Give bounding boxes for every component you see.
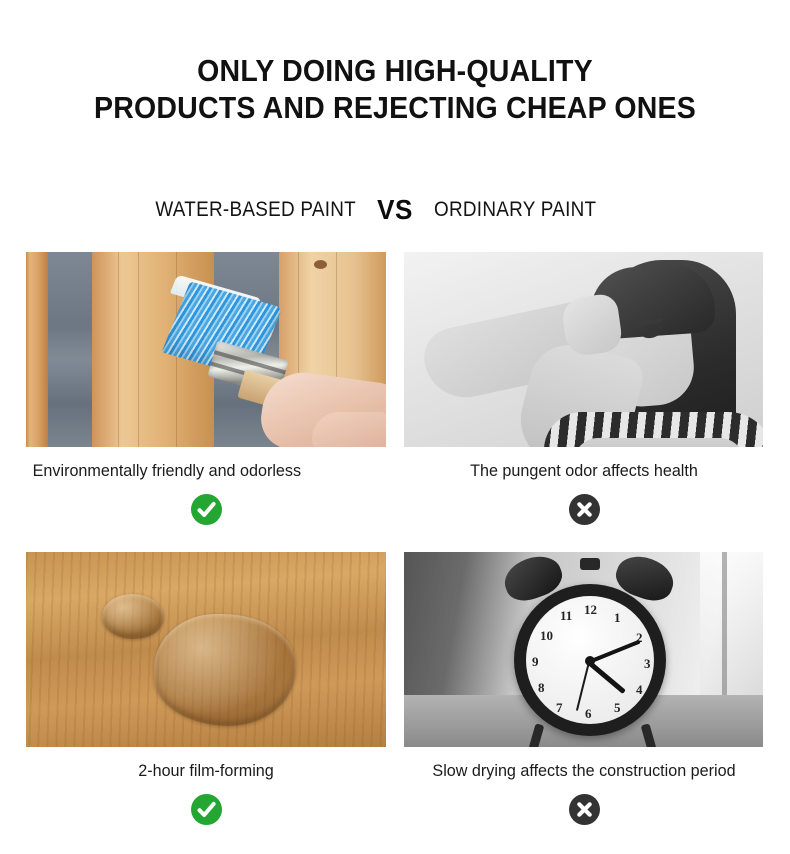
cell-caption: The pungent odor affects health (413, 460, 755, 482)
clock-numeral: 10 (540, 628, 553, 644)
clock-numeral: 4 (636, 682, 643, 698)
comparison-infographic: ONLY DOING HIGH-QUALITY PRODUCTS AND REJ… (0, 0, 790, 854)
versus-left-label: WATER-BASED PAINT (99, 198, 356, 222)
versus-right-label: ORDINARY PAINT (434, 198, 691, 222)
verdict-wrap (404, 494, 764, 525)
clock-numeral: 12 (584, 602, 597, 618)
cell-caption: Slow drying affects the construction per… (413, 760, 755, 782)
cell-caption: 2-hour film-forming (35, 760, 377, 782)
water-droplet-photo (26, 552, 386, 747)
verdict-wrap (26, 494, 386, 525)
comparison-grid: Environmentally friendly and odorless (26, 252, 763, 852)
comparison-cell-water-odor: Environmentally friendly and odorless (26, 252, 386, 552)
comparison-cell-water-drying: 2-hour film-forming (26, 552, 386, 852)
comparison-cell-ordinary-drying: 12 1 2 3 4 5 6 7 8 9 10 11 Sl (404, 552, 764, 852)
comparison-row: Environmentally friendly and odorless (26, 252, 763, 552)
check-icon (191, 794, 222, 825)
clock-numeral: 6 (585, 706, 592, 722)
comparison-cell-ordinary-odor: The pungent odor affects health (404, 252, 764, 552)
clock-numeral: 11 (560, 608, 572, 624)
clock-numeral: 8 (538, 680, 545, 696)
clock-numeral: 5 (614, 700, 621, 716)
paintbrush-photo (26, 252, 386, 447)
cell-caption: Environmentally friendly and odorless (26, 460, 368, 482)
page-title-line-1: ONLY DOING HIGH-QUALITY (32, 52, 759, 89)
clock-numeral: 7 (556, 700, 563, 716)
clock-numeral: 1 (614, 610, 621, 626)
clock-numeral: 3 (644, 656, 651, 672)
versus-separator: VS (359, 194, 432, 226)
pungent-odor-photo (404, 252, 763, 447)
clock-numeral: 9 (532, 654, 539, 670)
cross-icon (569, 794, 600, 825)
alarm-clock-photo: 12 1 2 3 4 5 6 7 8 9 10 11 (404, 552, 763, 747)
page-title-line-2: PRODUCTS AND REJECTING CHEAP ONES (32, 89, 759, 126)
verdict-wrap (404, 794, 764, 825)
verdict-wrap (26, 794, 386, 825)
versus-header: WATER-BASED PAINT VS ORDINARY PAINT (0, 190, 790, 230)
cross-icon (569, 494, 600, 525)
check-icon (191, 494, 222, 525)
page-title: ONLY DOING HIGH-QUALITY PRODUCTS AND REJ… (32, 52, 759, 126)
comparison-row: 2-hour film-forming (26, 552, 763, 852)
